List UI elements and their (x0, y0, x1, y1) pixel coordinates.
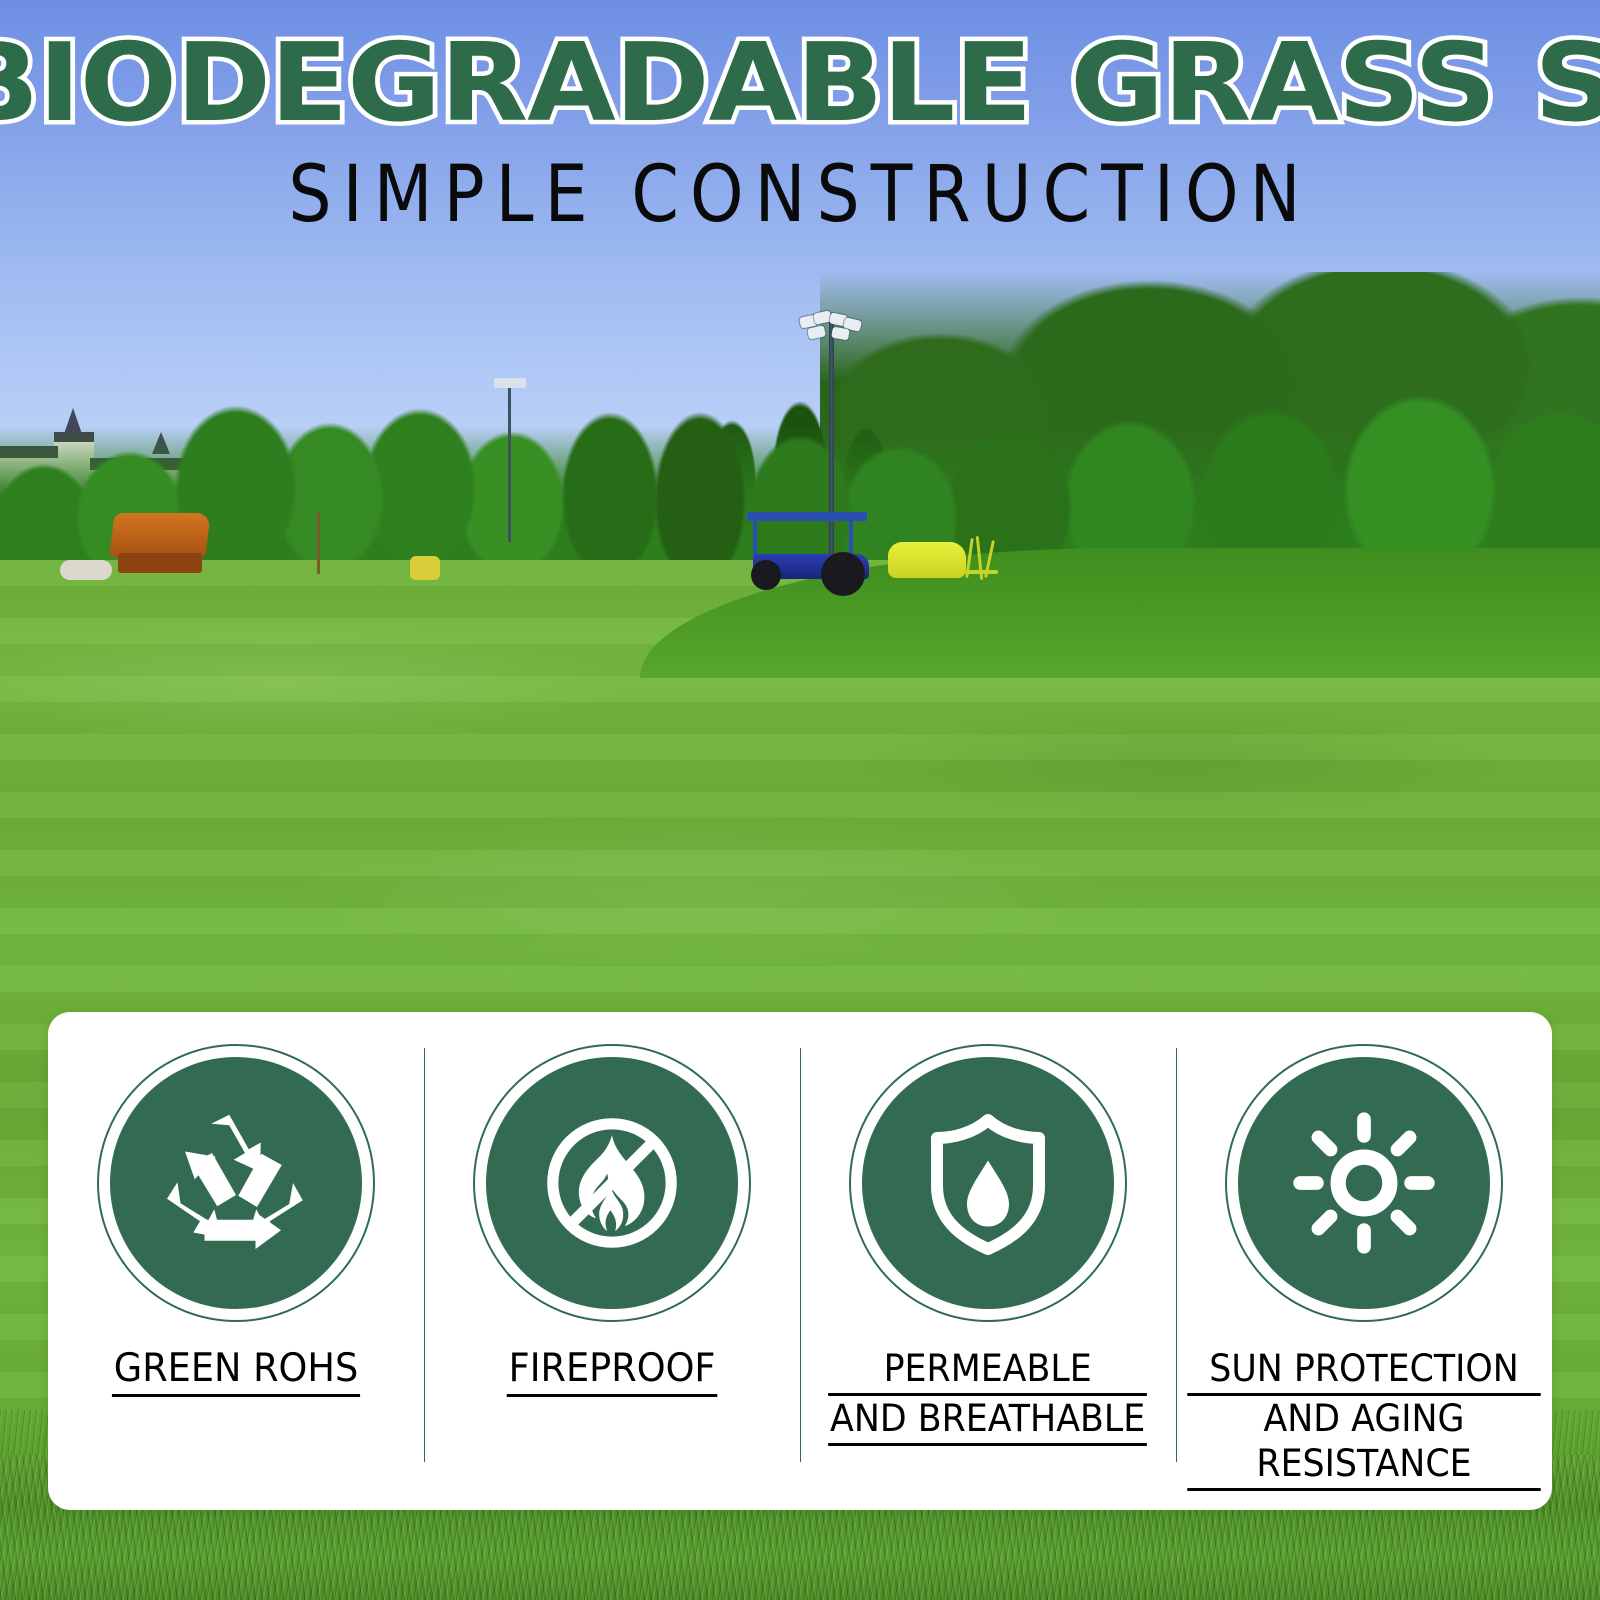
badge-disc (862, 1057, 1114, 1309)
blue-tractor (745, 512, 905, 584)
badge-ring (473, 1044, 751, 1322)
feature-label-line: AND AGING RESISTANCE (1187, 1396, 1540, 1491)
product-poster: BIODEGRADABLE GRASS SEED MAT SIMPLE CONS… (0, 0, 1600, 1600)
badge-disc (1238, 1057, 1490, 1309)
feature-label-line: FIREPROOF (507, 1346, 718, 1397)
feature-label: PERMEABLE AND BREATHABLE (829, 1346, 1148, 1446)
sun-icon (1288, 1107, 1440, 1259)
white-bag (60, 560, 112, 580)
badge-disc (110, 1057, 362, 1309)
feature-label-line: SUN PROTECTION (1187, 1346, 1540, 1396)
feature-label: GREEN ROHS (112, 1346, 360, 1397)
recycle-icon (161, 1108, 311, 1258)
feature-green-rohs[interactable]: GREEN ROHS (48, 1012, 424, 1510)
badge-ring (97, 1044, 375, 1322)
feature-label-line: PERMEABLE (829, 1346, 1148, 1396)
page-subtitle: SIMPLE CONSTRUCTION (64, 152, 1536, 237)
feature-label-line: AND BREATHABLE (829, 1396, 1148, 1446)
secondary-light-pole (508, 382, 511, 542)
badge-ring (1225, 1044, 1503, 1322)
no-fire-icon (532, 1103, 692, 1263)
feature-label: FIREPROOF (507, 1346, 718, 1397)
yellow-bag (410, 556, 440, 580)
feature-permeable[interactable]: PERMEABLE AND BREATHABLE (800, 1012, 1176, 1510)
feature-sun-protection[interactable]: SUN PROTECTION AND AGING RESISTANCE (1176, 1012, 1552, 1510)
feature-label-line: GREEN ROHS (112, 1346, 360, 1397)
orange-equipment (108, 513, 214, 575)
page-title: BIODEGRADABLE GRASS SEED MAT (0, 28, 1600, 140)
feature-fireproof[interactable]: FIREPROOF (424, 1012, 800, 1510)
shield-water-drop-icon (913, 1108, 1063, 1258)
badge-ring (849, 1044, 1127, 1322)
flagstick (317, 512, 320, 574)
feature-list: GREEN ROHS (48, 1012, 1552, 1510)
secondary-light-pole-head (494, 378, 526, 388)
badge-disc (486, 1057, 738, 1309)
light-pole-head (800, 312, 862, 340)
feature-panel: GREEN ROHS (48, 1012, 1552, 1510)
feature-label: SUN PROTECTION AND AGING RESISTANCE (1187, 1346, 1540, 1491)
yellow-sprayer-tank (888, 536, 1000, 584)
